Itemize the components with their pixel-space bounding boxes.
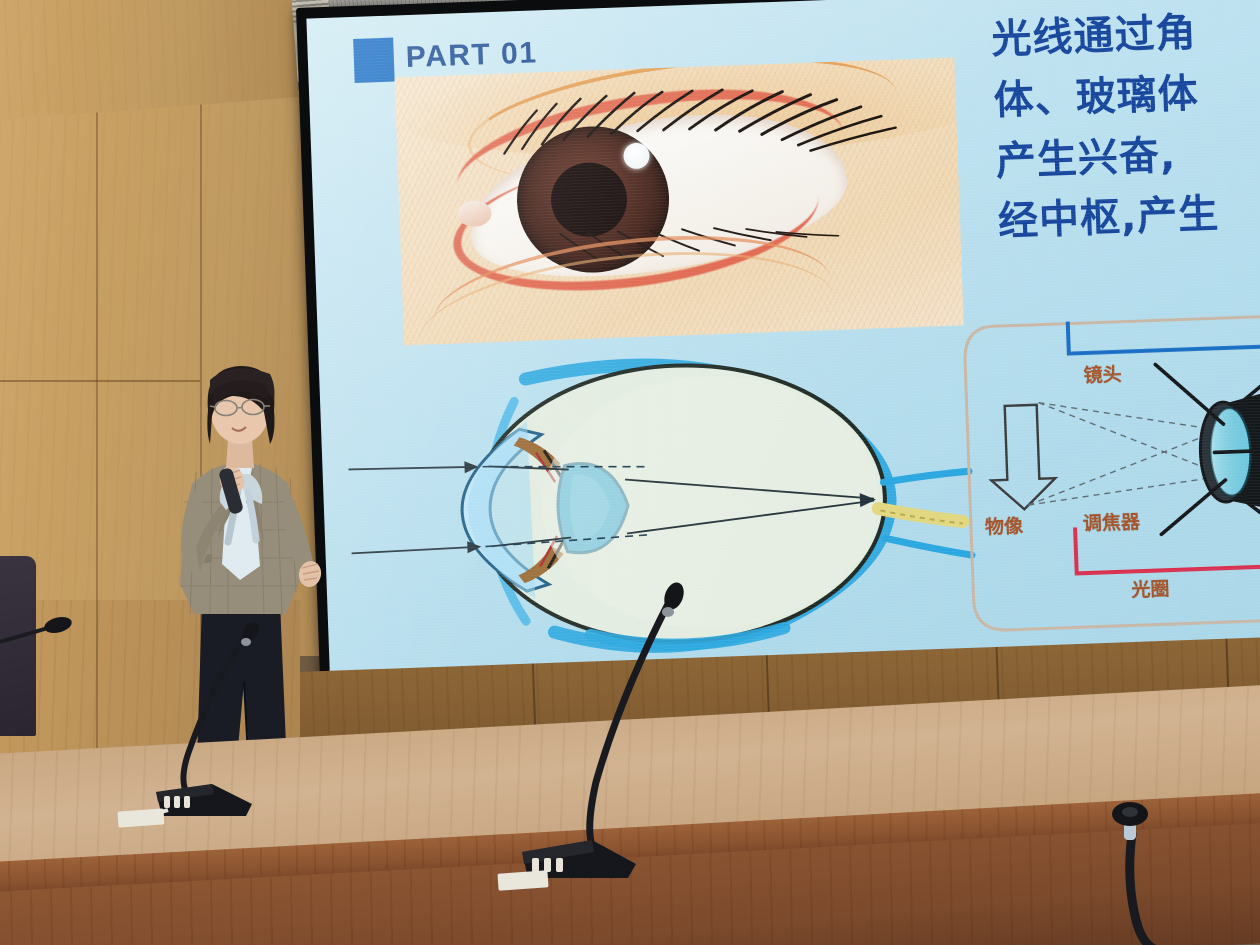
wall-mounted-presentation-screen[interactable]: PART 01 [296, 0, 1260, 718]
camera-label-object-image: 物像 [984, 511, 1023, 539]
podium-microphone [0, 596, 90, 656]
slide-body-line: 经中枢,产生 [997, 182, 1260, 253]
slide-body-line: 产生兴奋, [995, 121, 1260, 192]
table-power-outlet[interactable] [497, 870, 548, 890]
section-accent-marker [353, 38, 395, 83]
slide-title: PART 01 [405, 36, 538, 75]
table-power-outlet[interactable] [117, 808, 164, 827]
camera-label-aperture: 光圈 [1131, 574, 1170, 602]
eyelash-group-upper [490, 77, 913, 180]
camera-optics-diagram: 镜头 物像 调焦器 光圈 [957, 302, 1260, 654]
slide-body-line: 体、玻璃体 [993, 60, 1260, 131]
slide-canvas: PART 01 [306, 0, 1260, 694]
slide-body-line: 光线通过角 [991, 0, 1260, 71]
camera-label-lens: 镜头 [1083, 360, 1122, 388]
camera-label-focuser: 调焦器 [1082, 507, 1140, 536]
human-eye-closeup-photo [395, 57, 964, 345]
slide-body-text: 光线通过角 体、玻璃体 产生兴奋, 经中枢,产生 [991, 0, 1260, 253]
lecture-hall-photo: PART 01 [0, 0, 1260, 945]
